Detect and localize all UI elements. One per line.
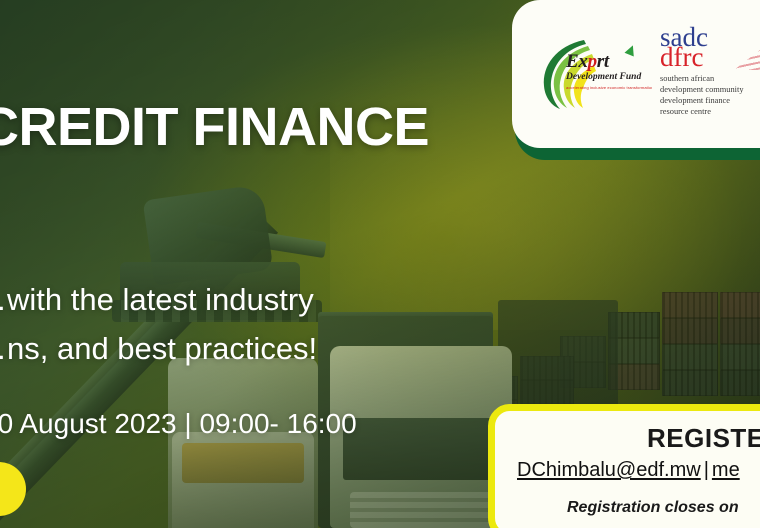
edf-wordmark: Exprt Development Fund accelerating incl… — [566, 52, 652, 90]
edf-subtitle: Development Fund — [566, 73, 652, 83]
register-card: REGISTER DChimbalu@edf.mw|me Registratio… — [488, 404, 760, 528]
poster-subline: …with the latest industry …ns, and best … — [0, 276, 317, 374]
poster-subline-line-1: …with the latest industry — [0, 276, 317, 325]
register-contacts: DChimbalu@edf.mw|me — [517, 459, 740, 482]
edf-rt: rt — [597, 51, 609, 72]
register-title: REGISTER — [647, 423, 760, 454]
edf-export-text: Exprt — [566, 52, 652, 71]
event-poster: CREDIT FINANCE …with the latest industry… — [0, 0, 760, 528]
sadc-tagline-line-3: development finance — [660, 96, 760, 107]
edf-ex: Ex — [566, 51, 588, 72]
poster-datetime: 30 August 2023 | 09:00- 16:00 — [0, 408, 357, 440]
edf-p: p — [588, 51, 597, 72]
register-separator: | — [701, 459, 712, 481]
register-email-primary[interactable]: DChimbalu@edf.mw — [517, 459, 701, 481]
export-development-fund-logo: Exprt Development Fund accelerating incl… — [540, 36, 652, 112]
sadc-tagline-line-2: development community — [660, 85, 760, 96]
sadc-tagline-line-4: resource centre — [660, 107, 760, 118]
sadc-tagline: southern african development community d… — [660, 74, 760, 117]
register-email-secondary[interactable]: me — [712, 459, 740, 481]
sadc-dfrc-logo: sadc dfrc southern african development c… — [660, 26, 760, 122]
edf-tagline: accelerating inclusive economic transfor… — [566, 86, 652, 90]
register-deadline-note: Registration closes on — [567, 499, 739, 517]
sadc-tagline-line-1: southern african — [660, 74, 760, 85]
logo-card: Exprt Development Fund accelerating incl… — [512, 0, 760, 148]
poster-headline: CREDIT FINANCE — [0, 96, 429, 158]
edf-arrow-icon — [624, 43, 637, 56]
poster-subline-line-2: …ns, and best practices! — [0, 325, 317, 374]
